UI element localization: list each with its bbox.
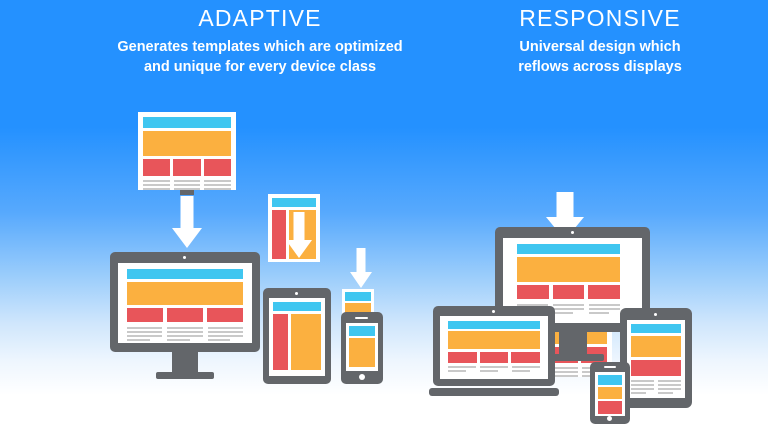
page-text-column [658, 380, 681, 396]
laptop-lid [433, 306, 555, 386]
adaptive-phone-device [341, 312, 383, 384]
text-line [631, 380, 654, 382]
webcam-icon [183, 256, 186, 259]
page-text-column [589, 304, 620, 316]
page-main-block [291, 314, 321, 370]
text-line [658, 392, 673, 394]
arrow-head [286, 240, 312, 258]
template-header-bar [143, 117, 231, 128]
page-text-columns [448, 366, 540, 374]
text-line [512, 370, 530, 372]
tablet-screen [269, 298, 325, 376]
monitor-stand-base [156, 372, 214, 379]
page-header-bar [127, 269, 243, 279]
monitor-screen [118, 263, 252, 343]
page-body [273, 314, 321, 370]
page-text-column [208, 327, 243, 343]
arrow-head [172, 228, 202, 248]
page-header-bar [631, 324, 681, 333]
page-text-column [127, 327, 162, 343]
arrow-shaft [557, 192, 574, 219]
text-line [127, 327, 162, 329]
text-line [143, 188, 170, 190]
page-text-columns [127, 327, 243, 343]
page-card [553, 285, 585, 299]
template-header-bar [345, 292, 371, 301]
earpiece-speaker-icon [355, 317, 368, 319]
page-text-column [480, 366, 508, 374]
text-line [658, 384, 681, 386]
page-card [127, 308, 163, 322]
adaptive-desktop-template [138, 112, 236, 190]
responsive-title: RESPONSIVE [450, 6, 750, 31]
text-line [448, 370, 466, 372]
front-camera-icon [295, 292, 298, 295]
page-card [480, 352, 509, 363]
text-line [631, 384, 654, 386]
responsive-laptop-device [429, 306, 559, 396]
monitor-bezel [110, 252, 260, 352]
down-arrow-icon [172, 196, 202, 248]
page-card [598, 401, 622, 414]
page-card [448, 352, 477, 363]
page-card-row [517, 285, 620, 299]
template-text-column [174, 180, 201, 190]
text-line [167, 335, 202, 337]
down-arrow-icon [350, 248, 372, 288]
page-text-column [512, 366, 540, 374]
text-line [208, 335, 243, 337]
page-header-bar [349, 326, 375, 336]
text-line [480, 370, 498, 372]
responsive-heading-block: RESPONSIVE Universal design which reflow… [450, 6, 750, 77]
adaptive-tablet-device [263, 288, 331, 384]
page-card [631, 360, 681, 376]
text-line [204, 184, 231, 186]
template-text-columns [143, 180, 231, 190]
webcam-icon [492, 310, 495, 313]
page-header-bar [448, 321, 540, 329]
template-text-column [204, 180, 231, 190]
adaptive-subtitle-line-2: and unique for every device class [80, 58, 440, 78]
text-line [127, 339, 150, 341]
text-line [658, 380, 681, 382]
page-header-bar [273, 302, 321, 311]
template-hero-block [143, 131, 231, 156]
text-line [174, 180, 201, 182]
template-card [204, 159, 231, 176]
responsive-subtitle-line-1: Universal design which [450, 38, 750, 58]
text-line [589, 312, 609, 314]
text-line [512, 366, 540, 368]
template-text-column [143, 180, 170, 190]
adaptive-desktop-monitor [110, 252, 260, 379]
text-line [143, 184, 170, 186]
text-line [631, 392, 646, 394]
monitor-stand-neck [172, 352, 198, 372]
page-card-row [448, 352, 540, 363]
adaptive-subtitle-line-1: Generates templates which are optimized [80, 38, 440, 58]
home-button-icon[interactable] [359, 374, 365, 380]
phone-screen [346, 323, 378, 371]
text-line [167, 339, 190, 341]
page-hero-block [127, 282, 243, 305]
page-card [167, 308, 203, 322]
text-line [208, 327, 243, 329]
page-hero-block [517, 257, 620, 282]
template-header-bar [272, 198, 316, 207]
page-card [588, 285, 620, 299]
page-sidebar [273, 314, 288, 370]
adaptive-subtitle: Generates templates which are optimized … [80, 38, 440, 77]
text-line [480, 366, 508, 368]
page-text-column [631, 380, 654, 396]
arrow-shaft [357, 248, 366, 273]
text-line [127, 335, 162, 337]
arrow-head [350, 272, 372, 288]
page-text-column [448, 366, 476, 374]
page-hero-block [448, 331, 540, 349]
adaptive-title: ADAPTIVE [80, 6, 440, 31]
home-button-icon[interactable] [607, 416, 612, 421]
page-card-row [127, 308, 243, 322]
down-arrow-icon [286, 212, 312, 258]
template-monitor-foot [180, 190, 194, 195]
responsive-tablet-device [620, 308, 692, 408]
template-card [173, 159, 200, 176]
page-text-columns [631, 380, 681, 396]
page-hero-block [631, 336, 681, 357]
page-card [511, 352, 540, 363]
arrow-shaft [181, 196, 194, 229]
responsive-subtitle: Universal design which reflows across di… [450, 38, 750, 77]
text-line [167, 327, 202, 329]
text-line [589, 304, 620, 306]
adaptive-heading-block: ADAPTIVE Generates templates which are o… [80, 6, 440, 77]
text-line [631, 388, 654, 390]
text-line [167, 331, 202, 333]
text-line [127, 331, 162, 333]
text-line [208, 339, 231, 341]
phone-screen [595, 372, 625, 416]
arrow-shaft [294, 212, 305, 241]
earpiece-speaker-icon [604, 366, 616, 368]
text-line [658, 388, 681, 390]
text-line [589, 308, 620, 310]
text-line [174, 184, 201, 186]
page-header-bar [598, 375, 622, 385]
front-camera-icon [654, 313, 657, 316]
webcam-icon [571, 231, 574, 234]
template-card [143, 159, 170, 176]
monitor-stand-neck [559, 332, 587, 354]
template-card-row [143, 159, 231, 176]
page-card [207, 308, 243, 322]
text-line [204, 188, 231, 190]
page-hero-block [598, 387, 622, 399]
page-header-bar [517, 244, 620, 254]
text-line [143, 180, 170, 182]
responsive-phone-device [590, 362, 630, 424]
responsive-subtitle-line-2: reflows across displays [450, 58, 750, 78]
tablet-screen [627, 320, 685, 398]
laptop-screen [440, 316, 548, 379]
template-sidebar [272, 210, 286, 259]
laptop-base-deck [429, 388, 559, 396]
page-card [517, 285, 549, 299]
text-line [208, 331, 243, 333]
text-line [448, 366, 476, 368]
page-main-block [349, 338, 375, 367]
page-text-column [167, 327, 202, 343]
text-line [204, 180, 231, 182]
